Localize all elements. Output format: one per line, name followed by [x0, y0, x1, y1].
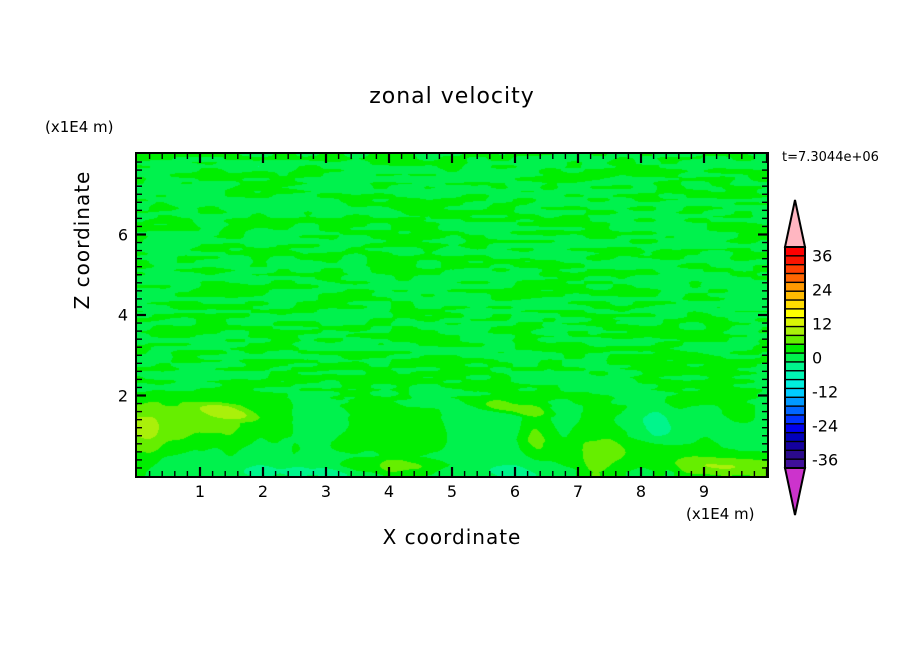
y-tick-label: 2 [112, 386, 128, 405]
y-tick-label: 6 [112, 225, 128, 244]
page-title: zonal velocity [0, 84, 904, 109]
plot-area [135, 152, 769, 478]
x-axis-title: X coordinate [135, 525, 769, 549]
colorbar-tick-label: 12 [812, 314, 832, 333]
colorbar[interactable]: 3624120-12-24-36 [778, 198, 898, 518]
x-tick-label: 6 [510, 482, 520, 501]
x-tick-label: 9 [699, 482, 709, 501]
x-tick-label: 2 [258, 482, 268, 501]
time-annotation: t=7.3044e+06 [782, 150, 879, 165]
x-tick-label: 5 [447, 482, 457, 501]
colorbar-gradient [778, 198, 898, 518]
colorbar-tick-label: 24 [812, 280, 832, 299]
colorbar-tick-label: -12 [812, 382, 838, 401]
colorbar-tick-label: 36 [812, 246, 832, 265]
x-tick-label: 4 [384, 482, 394, 501]
colorbar-tick-label: -36 [812, 450, 838, 469]
y-axis-unit-label: (x1E4 m) [45, 118, 114, 136]
y-axis-title: Z coordinate [70, 150, 94, 330]
y-tick-label: 4 [112, 306, 128, 325]
x-tick-label: 1 [195, 482, 205, 501]
x-tick-label: 8 [636, 482, 646, 501]
colorbar-tick-label: 0 [812, 348, 822, 367]
x-tick-label: 7 [573, 482, 583, 501]
figure-root: zonal velocity (x1E4 m) t=7.3044e+06 Z c… [0, 0, 904, 654]
colorbar-tick-label: -24 [812, 416, 838, 435]
x-tick-label: 3 [321, 482, 331, 501]
x-axis-unit-label: (x1E4 m) [686, 505, 755, 523]
axis-tick-marks [137, 154, 767, 476]
